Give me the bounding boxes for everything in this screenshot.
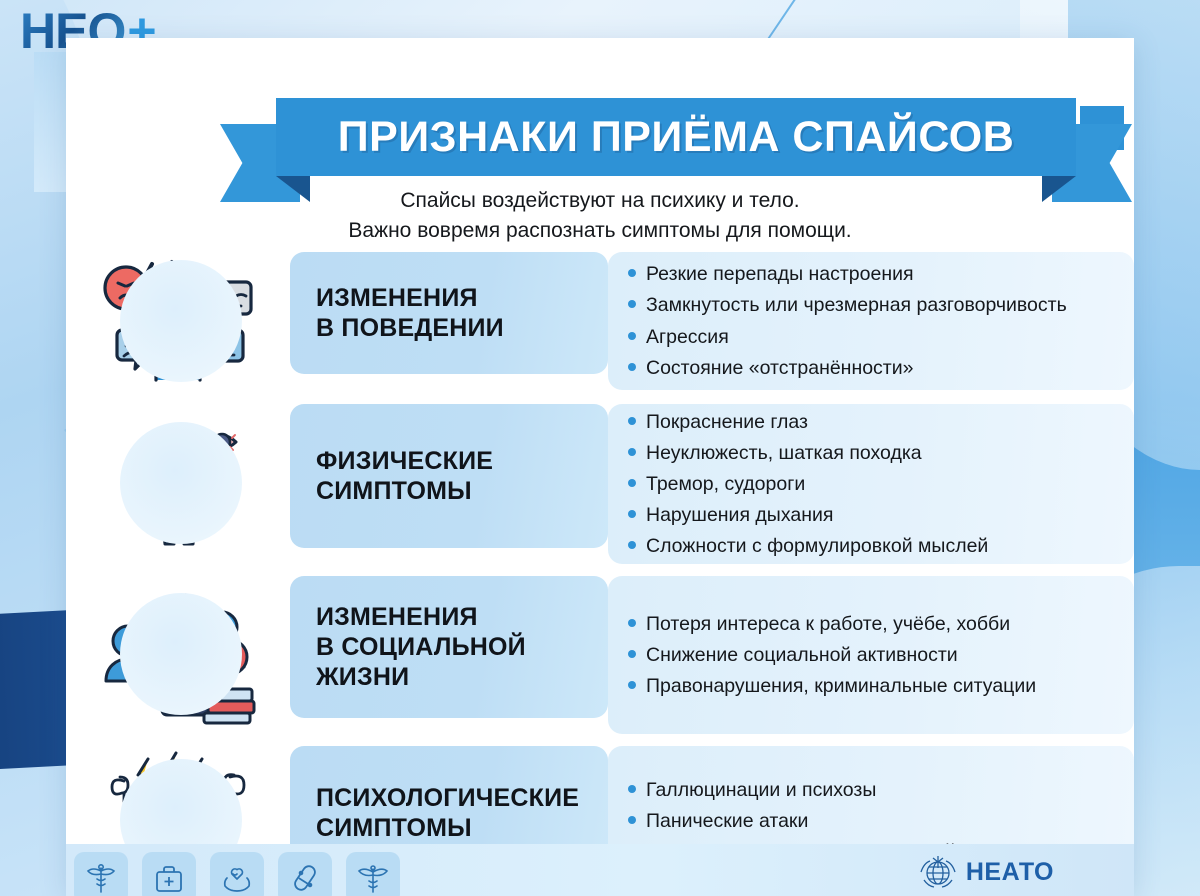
section-bullets-card: Покраснение глаз Неуклюжесть, шаткая пох…	[608, 404, 1134, 564]
bullet-item: Нарушения дыхания	[628, 500, 1118, 531]
bullet-dot-icon	[628, 510, 636, 518]
bullet-dot-icon	[628, 650, 636, 658]
bullet-text: Нарушения дыхания	[646, 501, 833, 529]
caduceus-icon	[74, 852, 128, 896]
subtitle-line-1: Спайсы воздействуют на психику и тело.	[186, 186, 1014, 216]
section-row-social: ИЗМЕНЕНИЯ В СОЦИАЛЬНОЙ ЖИЗНИ Потеря инте…	[66, 576, 1134, 734]
bullet-item: Снижение социальной активности	[628, 639, 1118, 670]
broken-social-links-briefcase-icon	[90, 585, 266, 725]
footer-icon-list	[74, 852, 400, 896]
section-label-line: В СОЦИАЛЬНОЙ	[316, 632, 526, 662]
bullet-text: Неуклюжесть, шаткая походка	[646, 439, 922, 467]
section-label-line: ИЗМЕНЕНИЯ	[316, 602, 526, 632]
bullet-dot-icon	[628, 448, 636, 456]
section-bullets-card: Потеря интереса к работе, учёбе, хобби С…	[608, 576, 1134, 734]
section-label-card: ИЗМЕНЕНИЯ В ПОВЕДЕНИИ	[290, 252, 608, 374]
bullet-text: Галлюцинации и психозы	[646, 776, 876, 804]
organization-logo: НЕАТО	[918, 852, 1054, 892]
section-label-cell: ИЗМЕНЕНИЯ В СОЦИАЛЬНОЙ ЖИЗНИ	[290, 576, 608, 734]
section-bullets-cell: Покраснение глаз Неуклюжесть, шаткая пох…	[608, 404, 1134, 564]
section-label-line: СИМПТОМЫ	[316, 813, 579, 843]
section-label: ИЗМЕНЕНИЯ В СОЦИАЛЬНОЙ ЖИЗНИ	[316, 602, 526, 692]
bullet-dot-icon	[628, 479, 636, 487]
section-bullets-cell: Резкие перепады настроения Замкнутость и…	[608, 252, 1134, 392]
bullet-item: Неуклюжесть, шаткая походка	[628, 437, 1118, 468]
bullet-text: Правонарушения, криминальные ситуации	[646, 672, 1036, 700]
bullet-dot-icon	[628, 619, 636, 627]
page-title: ПРИЗНАКИ ПРИЁМА СПАЙСОВ	[338, 113, 1015, 162]
section-label: ИЗМЕНЕНИЯ В ПОВЕДЕНИИ	[316, 283, 504, 343]
bullet-item: Панические атаки	[628, 805, 1118, 836]
ribbon-body: ПРИЗНАКИ ПРИЁМА СПАЙСОВ	[276, 98, 1076, 176]
caduceus-wings-icon	[346, 852, 400, 896]
section-label-cell: ФИЗИЧЕСКИЕ СИМПТОМЫ	[290, 404, 608, 564]
section-row-physical: ФИЗИЧЕСКИЕ СИМПТОМЫ Покраснение глаз Неу…	[66, 404, 1134, 564]
bullet-text: Агрессия	[646, 323, 729, 351]
sections-list: ИЗМЕНЕНИЯ В ПОВЕДЕНИИ Резкие перепады на…	[66, 252, 1134, 896]
section-label-line: ПСИХОЛОГИЧЕСКИЕ	[316, 783, 579, 813]
bullet-item: Сложности с формулировкой мыслей	[628, 531, 1118, 562]
angry-person-emotions-icon	[90, 252, 266, 392]
subtitle: Спайсы воздействуют на психику и тело. В…	[186, 186, 1014, 246]
bullet-text: Покраснение глаз	[646, 408, 808, 436]
bullet-text: Тремор, судороги	[646, 470, 805, 498]
section-label-line: ФИЗИЧЕСКИЕ	[316, 446, 493, 476]
bullet-item: Резкие перепады настроения	[628, 259, 1118, 290]
section-label-line: ИЗМЕНЕНИЯ	[316, 283, 504, 313]
section-label-line: В ПОВЕДЕНИИ	[316, 313, 504, 343]
section-label: ФИЗИЧЕСКИЕ СИМПТОМЫ	[316, 446, 493, 506]
bullet-item: Потеря интереса к работе, учёбе, хобби	[628, 608, 1118, 639]
subtitle-line-2: Важно вовремя распознать симптомы для по…	[186, 216, 1014, 246]
infographic-poster: HEO + ПРИЗНАКИ ПРИЁМА СПАЙСОВ Спайсы воз…	[0, 0, 1200, 896]
bullet-dot-icon	[628, 785, 636, 793]
section-icon-cell	[66, 252, 290, 392]
section-icon-cell	[66, 404, 290, 564]
section-bullets-cell: Потеря интереса к работе, учёбе, хобби С…	[608, 576, 1134, 734]
title-ribbon: ПРИЗНАКИ ПРИЁМА СПАЙСОВ	[246, 98, 1106, 176]
bullet-text: Панические атаки	[646, 807, 808, 835]
first-aid-kit-icon	[142, 852, 196, 896]
section-row-behaviour: ИЗМЕНЕНИЯ В ПОВЕДЕНИИ Резкие перепады на…	[66, 252, 1134, 392]
bullet-item: Галлюцинации и психозы	[628, 774, 1118, 805]
bullet-text: Состояние «отстранённости»	[646, 354, 913, 382]
bullet-text: Сложности с формулировкой мыслей	[646, 532, 988, 560]
bullet-dot-icon	[628, 816, 636, 824]
section-bullets-card: Резкие перепады настроения Замкнутость и…	[608, 252, 1134, 390]
organization-name: НЕАТО	[966, 858, 1054, 887]
bullet-item: Агрессия	[628, 321, 1118, 352]
bullet-text: Замкнутость или чрезмерная разговорчивос…	[646, 291, 1067, 319]
section-label-card: ИЗМЕНЕНИЯ В СОЦИАЛЬНОЙ ЖИЗНИ	[290, 576, 608, 718]
bullet-text: Потеря интереса к работе, учёбе, хобби	[646, 610, 1010, 638]
capsule-pill-icon	[278, 852, 332, 896]
bullet-dot-icon	[628, 300, 636, 308]
bullet-item: Правонарушения, криминальные ситуации	[628, 671, 1118, 702]
bullet-item: Покраснение глаз	[628, 406, 1118, 437]
heart-in-hands-icon	[210, 852, 264, 896]
bullet-item: Состояние «отстранённости»	[628, 352, 1118, 383]
bullet-dot-icon	[628, 681, 636, 689]
bullet-dot-icon	[628, 269, 636, 277]
bullet-text: Резкие перепады настроения	[646, 260, 914, 288]
section-label-line: СИМПТОМЫ	[316, 476, 493, 506]
bullet-item: Тремор, судороги	[628, 468, 1118, 499]
bullet-dot-icon	[628, 332, 636, 340]
section-label-card: ФИЗИЧЕСКИЕ СИМПТОМЫ	[290, 404, 608, 548]
poster-card: ПРИЗНАКИ ПРИЁМА СПАЙСОВ Спайсы воздейств…	[66, 38, 1134, 896]
bullet-dot-icon	[628, 417, 636, 425]
bullet-text: Снижение социальной активности	[646, 641, 958, 669]
section-icon-cell	[66, 576, 290, 734]
footer-bar: НЕАТО	[66, 844, 1134, 896]
section-label-line: ЖИЗНИ	[316, 662, 526, 692]
section-label: ПСИХОЛОГИЧЕСКИЕ СИМПТОМЫ	[316, 783, 579, 843]
bullet-dot-icon	[628, 541, 636, 549]
trembling-body-red-eye-icon	[90, 414, 266, 554]
bullet-item: Замкнутость или чрезмерная разговорчивос…	[628, 290, 1118, 321]
section-label-cell: ИЗМЕНЕНИЯ В ПОВЕДЕНИИ	[290, 252, 608, 392]
bullet-dot-icon	[628, 363, 636, 371]
